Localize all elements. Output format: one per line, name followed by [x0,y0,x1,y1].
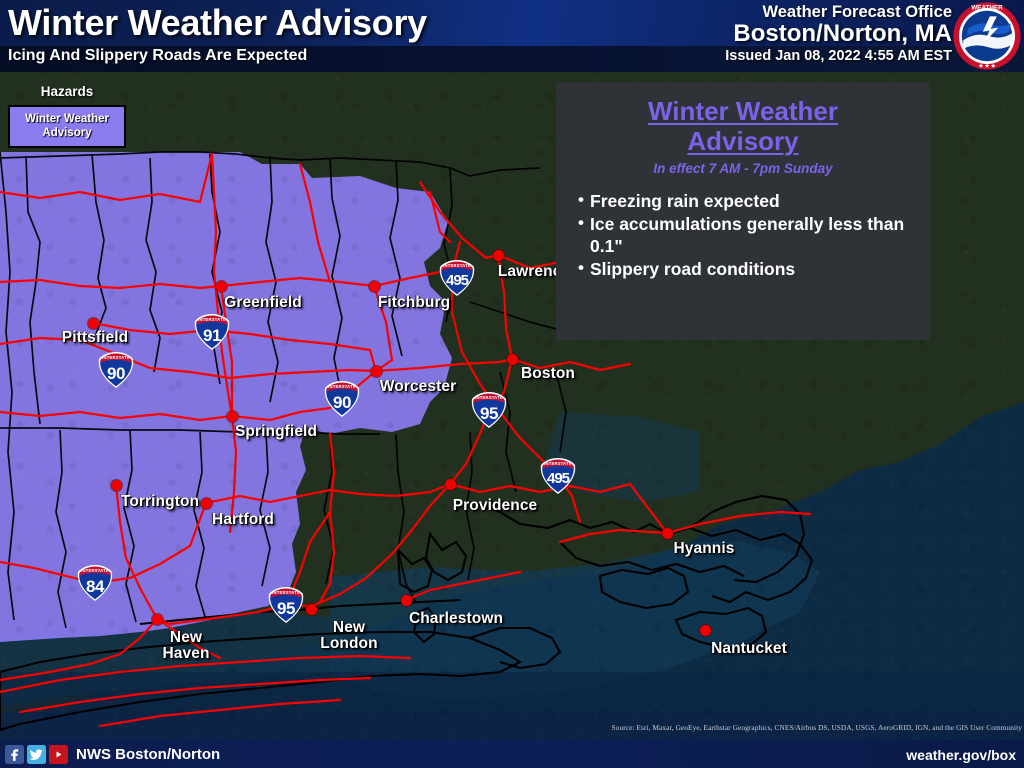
interstate-shield: INTERSTATE90 [96,350,136,390]
city-label: Greenfield [224,295,302,311]
shield-number: 495 [538,470,578,487]
city-label: New London [320,620,377,653]
city-label: Nantucket [711,641,787,657]
twitter-icon[interactable] [27,745,46,764]
panel-heading: Winter Weather Advisory [556,82,930,156]
city-dot [152,614,163,625]
footer-url[interactable]: weather.gov/box [906,747,1016,763]
panel-bullet: Ice accumulations generally less than 0.… [578,213,924,257]
shield-number: 495 [437,272,477,289]
shield-number: 95 [469,404,509,424]
city-dot [201,498,212,509]
shield-tag: INTERSTATE [96,355,136,360]
city-dot [493,250,504,261]
legend-swatch-winter-weather-advisory: Winter Weather Advisory [8,105,126,148]
city-label: Pittsfield [62,330,128,346]
city-dot [216,281,227,292]
shield-number: 90 [322,393,362,413]
interstate-shield: INTERSTATE495 [538,456,578,496]
city-label: Worcester [380,379,456,395]
city-dot [88,318,99,329]
city-label: Charlestown [409,611,503,627]
interstate-shield: INTERSTATE84 [75,563,115,603]
office-name: Boston/Norton, MA [733,20,952,48]
footer-office-label: NWS Boston/Norton [76,746,220,763]
panel-bullet: Freezing rain expected [578,190,924,212]
advisory-info-panel: Winter Weather Advisory In effect 7 AM -… [556,82,930,340]
city-dot [111,480,122,491]
legend-title: Hazards [8,80,126,105]
shield-tag: INTERSTATE [322,384,362,389]
issued-timestamp: Issued Jan 08, 2022 4:55 AM EST [725,48,952,64]
legend-item-label: Winter Weather Advisory [13,112,121,141]
city-label: Hartford [212,512,274,528]
city-dot [700,625,711,636]
city-label: Boston [521,366,575,382]
svg-text:WEATHER: WEATHER [971,4,1003,11]
city-dot [401,595,412,606]
interstate-shield: INTERSTATE95 [469,390,509,430]
city-label: Springfield [235,424,317,440]
page-subtitle: Icing And Slippery Roads Are Expected [8,47,307,65]
weather-advisory-graphic: PittsfieldGreenfieldFitchburgLawrenceWor… [0,0,1024,768]
city-dot [369,281,380,292]
city-label: Hyannis [674,541,735,557]
shield-tag: INTERSTATE [437,263,477,268]
interstate-shield: INTERSTATE91 [192,312,232,352]
city-dot [227,411,238,422]
panel-bullet-list: Freezing rain expectedIce accumulations … [556,190,930,280]
panel-heading-line2: Advisory [687,126,798,156]
shield-number: 90 [96,364,136,384]
panel-bullet: Slippery road conditions [578,258,924,280]
city-label: Torrington [121,494,199,510]
city-dot [445,479,456,490]
hazards-legend: Hazards Winter Weather Advisory [8,80,126,148]
city-label: Providence [453,498,538,514]
panel-subheading: In effect 7 AM - 7pm Sunday [556,156,930,176]
nws-logo: WEATHER ★ ★ ★ [952,1,1022,71]
svg-text:★ ★ ★: ★ ★ ★ [977,64,995,70]
page-title: Winter Weather Advisory [8,2,427,44]
shield-tag: INTERSTATE [538,461,578,466]
interstate-shield: INTERSTATE95 [266,585,306,625]
header-bar: Winter Weather Advisory Icing And Slippe… [0,0,1024,72]
shield-tag: INTERSTATE [192,317,232,322]
shield-tag: INTERSTATE [469,395,509,400]
city-label: New Haven [162,630,209,663]
map-attribution: Source: Esri, Maxar, GeoEye, Earthstar G… [612,723,1022,732]
shield-tag: INTERSTATE [266,590,306,595]
shield-number: 84 [75,577,115,597]
interstate-shield: INTERSTATE90 [322,379,362,419]
city-dot [662,528,673,539]
youtube-icon[interactable] [49,745,68,764]
interstate-shield: INTERSTATE495 [437,258,477,298]
city-dot [507,354,518,365]
footer-bar: NWS Boston/Norton weather.gov/box [0,740,1024,768]
shield-number: 95 [266,599,306,619]
shield-number: 91 [192,326,232,346]
city-dot [371,366,382,377]
facebook-icon[interactable] [5,745,24,764]
shield-tag: INTERSTATE [75,568,115,573]
city-dot [306,604,317,615]
panel-heading-line1: Winter Weather [648,96,838,126]
